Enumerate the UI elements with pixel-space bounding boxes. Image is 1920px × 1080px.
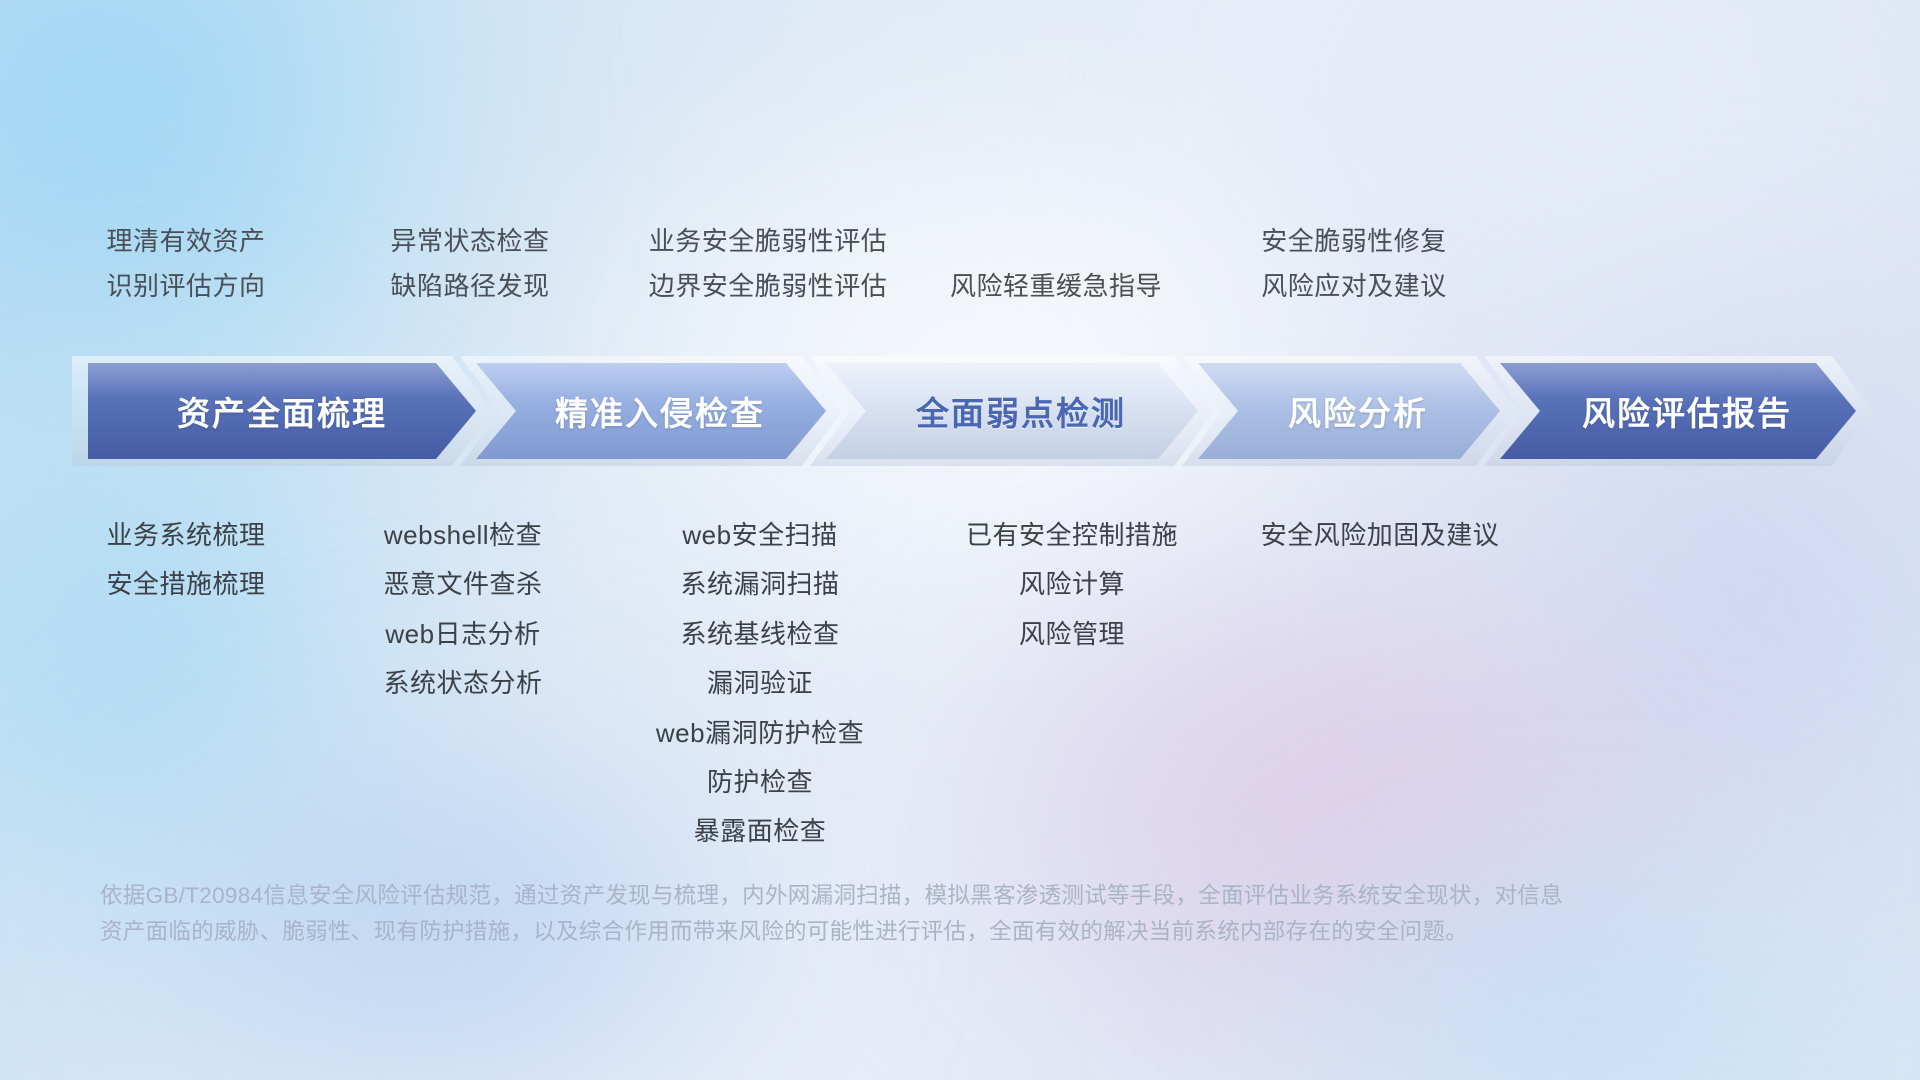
top-notes-row: 理清有效资产识别评估方向 异常状态检查缺陷路径发现 业务安全脆弱性评估边界安全脆… xyxy=(0,0,1920,355)
detail-item: 漏洞验证 xyxy=(480,659,1040,708)
process-chevron-banner: 资产全面梳理 精准入侵 xyxy=(88,363,1856,459)
detail-item: 暴露面检查 xyxy=(480,807,1040,856)
footer-line-1: 依据GB/T20984信息安全风险评估规范，通过资产发现与梳理，内外网漏洞扫描，… xyxy=(100,878,1840,914)
top-note: 风险应对及建议 xyxy=(1094,264,1614,309)
footer-description: 依据GB/T20984信息安全风险评估规范，通过资产发现与梳理，内外网漏洞扫描，… xyxy=(100,878,1840,951)
process-step-label: 精准入侵检查 xyxy=(555,387,765,435)
top-note: 业务安全脆弱性评估 xyxy=(508,219,1028,264)
top-note: 安全脆弱性修复 xyxy=(1094,219,1614,264)
footer-line-2: 资产面临的威胁、脆弱性、现有防护措施，以及综合作用而带来风险的可能性进行评估，全… xyxy=(100,914,1840,950)
process-step-label: 资产全面梳理 xyxy=(177,387,387,435)
process-step-weakness-detection[interactable]: 全面弱点检测 xyxy=(826,363,1198,459)
process-step-label: 风险分析 xyxy=(1288,387,1428,435)
process-step-intrusion-check[interactable]: 精准入侵检查 xyxy=(476,363,826,459)
process-step-label: 全面弱点检测 xyxy=(916,387,1126,435)
detail-item: 安全风险加固及建议 xyxy=(1100,511,1660,560)
detail-item: 风险计算 xyxy=(792,560,1352,609)
process-step-asset-inventory[interactable]: 资产全面梳理 xyxy=(88,363,476,459)
process-step-risk-analysis[interactable]: 风险分析 xyxy=(1198,363,1500,459)
process-diagram: 理清有效资产识别评估方向 异常状态检查缺陷路径发现 业务安全脆弱性评估边界安全脆… xyxy=(0,0,1920,1080)
detail-item: web漏洞防护检查 xyxy=(480,709,1040,758)
process-step-label: 风险评估报告 xyxy=(1582,387,1792,435)
top-notes-risk-report: 安全脆弱性修复风险应对及建议 xyxy=(1094,219,1614,308)
detail-item: 风险管理 xyxy=(792,610,1352,659)
detail-item: 防护检查 xyxy=(480,758,1040,807)
process-step-risk-report[interactable]: 风险评估报告 xyxy=(1500,363,1856,459)
detail-list-risk-report: 安全风险加固及建议 xyxy=(1100,511,1660,560)
